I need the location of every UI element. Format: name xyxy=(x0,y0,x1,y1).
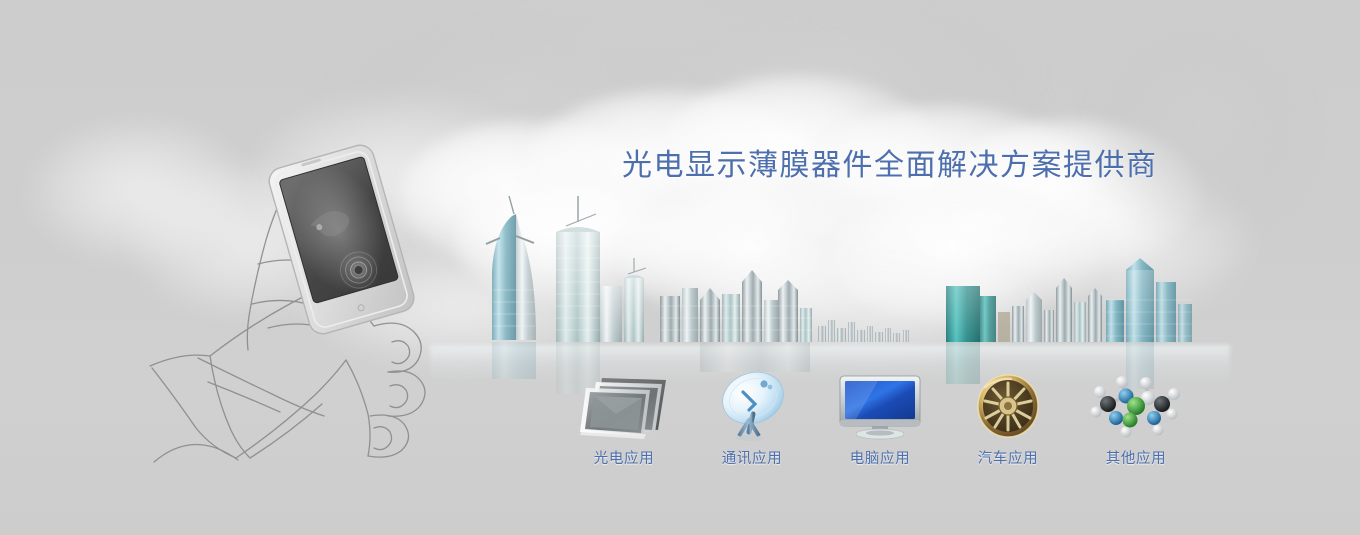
application-label: 汽车应用 xyxy=(978,447,1038,468)
application-item-automotive[interactable]: 汽车应用 xyxy=(944,358,1072,468)
page-title: 光电显示薄膜器件全面解决方案提供商 xyxy=(622,140,1158,184)
application-icon-row: 光电应用 xyxy=(560,358,1200,468)
application-label: 通讯应用 xyxy=(722,447,782,468)
application-item-optoelectronic[interactable]: 光电应用 xyxy=(560,358,688,468)
molecule-model-icon xyxy=(1086,370,1186,442)
computer-monitor-icon xyxy=(834,370,926,442)
satellite-dish-icon xyxy=(709,370,795,442)
alloy-wheel-icon xyxy=(970,370,1046,442)
application-item-other[interactable]: 其他应用 xyxy=(1072,358,1200,468)
application-item-communication[interactable]: 通讯应用 xyxy=(688,358,816,468)
hero-banner: 光电显示薄膜器件全面解决方案提供商 xyxy=(0,0,1360,535)
glass-film-sheets-icon xyxy=(576,370,672,442)
application-label: 光电应用 xyxy=(594,447,654,468)
application-item-computer[interactable]: 电脑应用 xyxy=(816,358,944,468)
application-label: 其他应用 xyxy=(1106,447,1166,468)
hand-holding-smartphone-illustration xyxy=(138,128,468,473)
application-label: 电脑应用 xyxy=(850,447,910,468)
